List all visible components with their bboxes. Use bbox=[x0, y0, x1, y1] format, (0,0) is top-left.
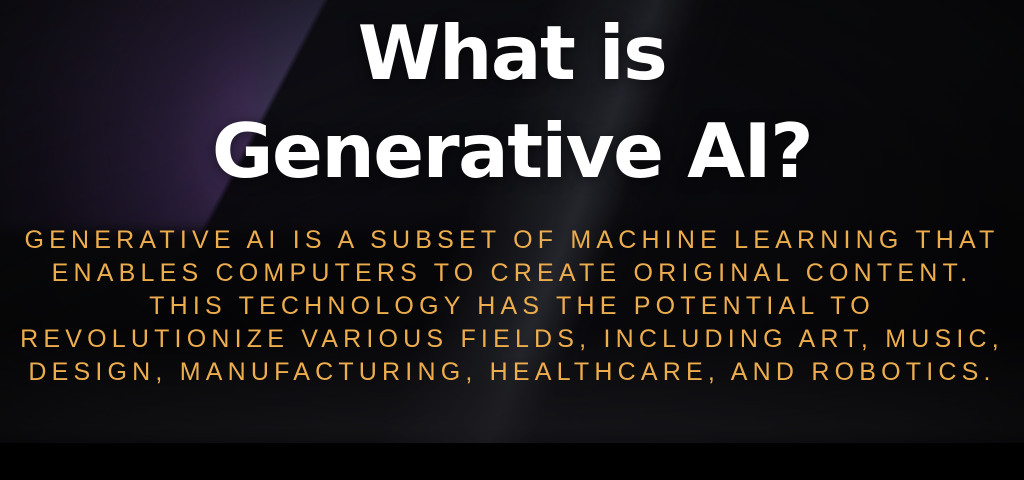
slide-content: What is Generative AI? Generative AI is … bbox=[0, 0, 1024, 480]
slide-title-line-2: Generative AI? bbox=[0, 102, 1024, 200]
presentation-slide: What is Generative AI? Generative AI is … bbox=[0, 0, 1024, 480]
slide-title: What is Generative AI? bbox=[0, 0, 1024, 200]
slide-title-line-1: What is bbox=[0, 4, 1024, 102]
slide-body-paragraph: Generative AI is a subset of machine lea… bbox=[0, 200, 1024, 389]
